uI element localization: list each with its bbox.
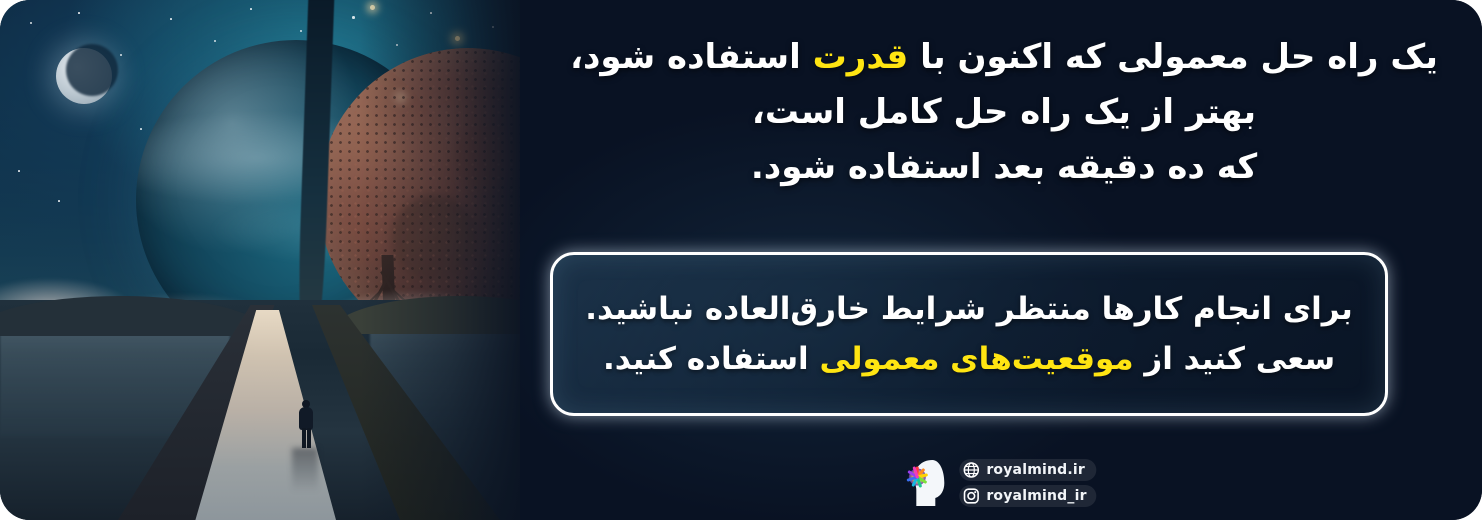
- lead-quote-line-1: یک راه حل معمولی که اکنون با قدرت استفاد…: [548, 30, 1460, 85]
- lead-quote: یک راه حل معمولی که اکنون با قدرت استفاد…: [548, 30, 1460, 195]
- quote-card: یک راه حل معمولی که اکنون با قدرت استفاد…: [0, 0, 1482, 520]
- callout-line2-part-a: سعی کنید از: [1134, 341, 1335, 377]
- lead-line1-part-a: یک راه حل معمولی که اکنون با: [908, 37, 1438, 77]
- royalmind-head-logo: [905, 456, 949, 510]
- lead-line1-part-b: استفاده شود،: [570, 37, 813, 77]
- callout-line-2: سعی کنید از موقعیت‌های معمولی استفاده کن…: [603, 336, 1335, 383]
- figure-leg-right: [307, 428, 311, 448]
- branding-footer: royalmind.ir royalmind_ir: [905, 456, 1096, 510]
- walking-figure: [298, 400, 314, 448]
- figure-body: [299, 407, 313, 430]
- callout-line-1: برای انجام کارها منتظر شرایط خارق‌العاده…: [585, 286, 1352, 333]
- website-handle[interactable]: royalmind.ir: [959, 459, 1096, 481]
- figure-reflection: [292, 448, 318, 492]
- instagram-icon: [963, 488, 979, 504]
- website-label: royalmind.ir: [986, 462, 1085, 478]
- social-handles: royalmind.ir royalmind_ir: [959, 459, 1096, 507]
- artwork-illustration: [0, 0, 520, 520]
- callout-line2-part-b: استفاده کنید.: [603, 341, 820, 377]
- globe-icon: [963, 462, 979, 478]
- artwork-fade-overlay: [360, 0, 520, 520]
- instagram-handle[interactable]: royalmind_ir: [959, 485, 1096, 507]
- lead-quote-line-2: بهتر از یک راه حل کامل است،: [548, 85, 1460, 140]
- figure-leg-left: [302, 428, 306, 448]
- crescent-moon: [56, 48, 112, 104]
- callout-line2-highlight: موقعیت‌های معمولی: [819, 341, 1133, 377]
- lead-line1-highlight: قدرت: [813, 37, 909, 77]
- instagram-label: royalmind_ir: [986, 488, 1086, 504]
- text-panel: یک راه حل معمولی که اکنون با قدرت استفاد…: [520, 0, 1482, 520]
- lead-quote-line-3: که ده دقیقه بعد استفاده شود.: [548, 140, 1460, 195]
- callout-box: برای انجام کارها منتظر شرایط خارق‌العاده…: [550, 252, 1388, 416]
